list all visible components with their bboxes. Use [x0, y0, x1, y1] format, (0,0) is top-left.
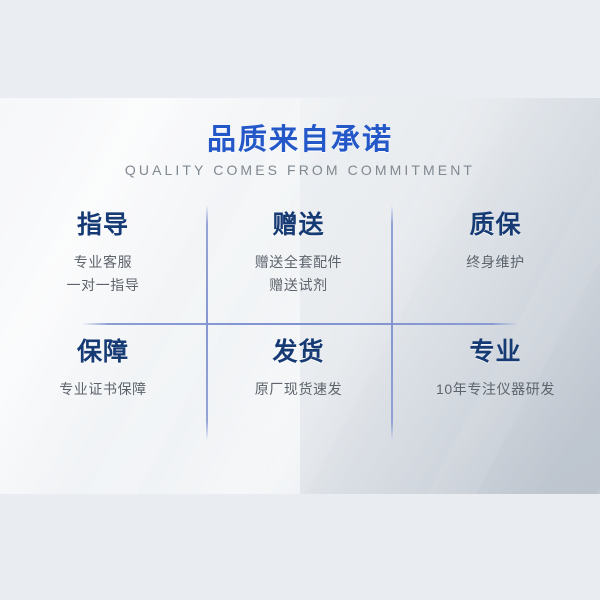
- feature-line: 专业证书保障: [59, 378, 147, 401]
- content-panel: 品质来自承诺 QUALITY COMES FROM COMMITMENT 指导 …: [0, 98, 600, 494]
- feature-description: 赠送全套配件 赠送试剂: [255, 251, 343, 297]
- feature-line: 赠送试剂: [255, 274, 343, 297]
- feature-description: 终身维护: [466, 251, 524, 274]
- feature-line: 终身维护: [466, 251, 524, 274]
- feature-line: 原厂现货速发: [255, 378, 343, 401]
- page-subtitle: QUALITY COMES FROM COMMITMENT: [0, 162, 600, 178]
- feature-heading: 质保: [469, 212, 521, 240]
- promo-banner: 品质来自承诺 QUALITY COMES FROM COMMITMENT 指导 …: [0, 0, 600, 600]
- feature-heading: 指导: [77, 212, 129, 240]
- feature-heading: 保障: [77, 339, 129, 367]
- page-title: 品质来自承诺: [0, 116, 600, 158]
- feature-line: 10年专注仪器研发: [436, 378, 555, 401]
- feature-cell-guidance: 指导 专业客服 一对一指导: [0, 202, 206, 323]
- feature-line: 专业客服: [67, 251, 140, 274]
- feature-line: 一对一指导: [67, 274, 140, 297]
- feature-heading: 赠送: [272, 212, 324, 240]
- feature-cell-assurance: 保障 专业证书保障: [0, 323, 206, 444]
- feature-cell-gift: 赠送 赠送全套配件 赠送试剂: [206, 202, 391, 323]
- feature-cell-expertise: 专业 10年专注仪器研发: [391, 323, 600, 444]
- feature-heading: 专业: [469, 339, 521, 367]
- feature-description: 原厂现货速发: [255, 378, 343, 401]
- feature-heading: 发货: [272, 339, 324, 367]
- feature-description: 10年专注仪器研发: [436, 378, 555, 401]
- feature-grid: 指导 专业客服 一对一指导 赠送 赠送全套配件 赠送试剂 质保: [0, 202, 600, 444]
- feature-description: 专业证书保障: [59, 378, 147, 401]
- feature-description: 专业客服 一对一指导: [67, 251, 140, 297]
- feature-cell-shipping: 发货 原厂现货速发: [206, 323, 391, 444]
- panel-content: 品质来自承诺 QUALITY COMES FROM COMMITMENT 指导 …: [0, 98, 600, 494]
- feature-line: 赠送全套配件: [255, 251, 343, 274]
- feature-cell-warranty: 质保 终身维护: [391, 202, 600, 323]
